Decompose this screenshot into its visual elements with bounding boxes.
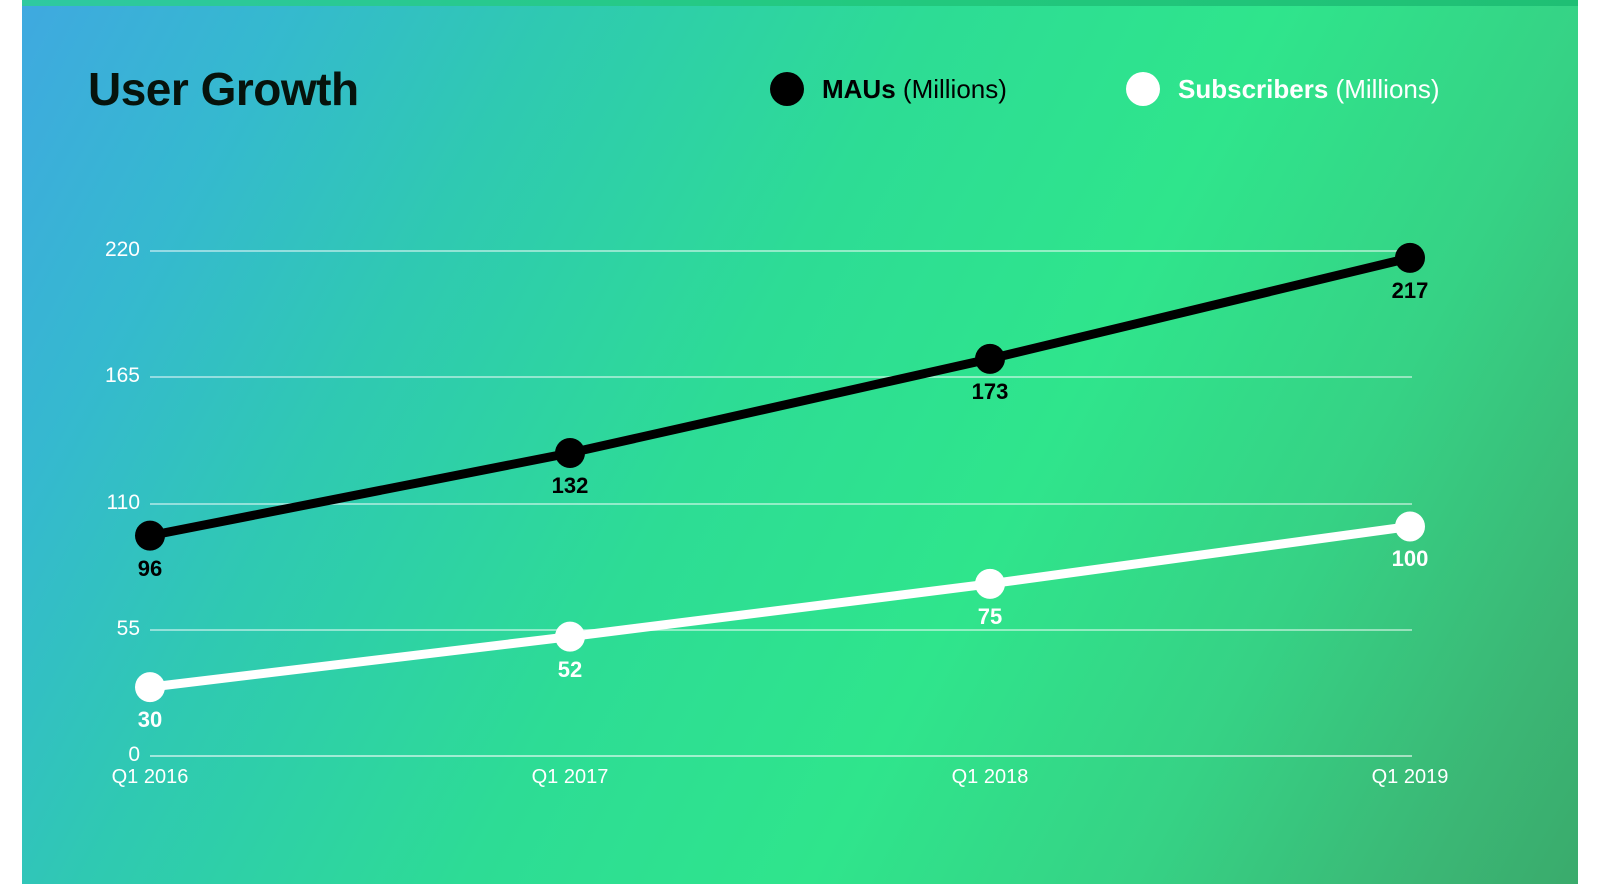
value-label-subscribers-2: 75 xyxy=(890,604,1090,630)
data-point-maus-3[interactable] xyxy=(1395,243,1425,273)
value-label-subscribers-1: 52 xyxy=(470,657,670,683)
gradient-panel: User Growth MAUs (Millions) Subscribers … xyxy=(22,6,1578,884)
data-point-subscribers-3[interactable] xyxy=(1395,511,1425,541)
value-label-subscribers-0: 30 xyxy=(50,707,250,733)
value-label-maus-3: 217 xyxy=(1310,278,1510,304)
value-label-subscribers-3: 100 xyxy=(1310,546,1510,572)
data-point-maus-0[interactable] xyxy=(135,521,165,551)
value-label-maus-2: 173 xyxy=(890,379,1090,405)
data-point-subscribers-0[interactable] xyxy=(135,672,165,702)
value-label-maus-1: 132 xyxy=(470,473,670,499)
slide-canvas: User Growth MAUs (Millions) Subscribers … xyxy=(22,0,1578,884)
series-line-subscribers xyxy=(150,526,1410,687)
user-growth-chart: User Growth MAUs (Millions) Subscribers … xyxy=(22,6,1578,884)
plot-area xyxy=(22,6,1578,884)
series-line-maus xyxy=(150,258,1410,536)
value-label-maus-0: 96 xyxy=(50,556,250,582)
data-point-subscribers-1[interactable] xyxy=(555,622,585,652)
data-point-subscribers-2[interactable] xyxy=(975,569,1005,599)
data-point-maus-1[interactable] xyxy=(555,438,585,468)
data-point-maus-2[interactable] xyxy=(975,344,1005,374)
